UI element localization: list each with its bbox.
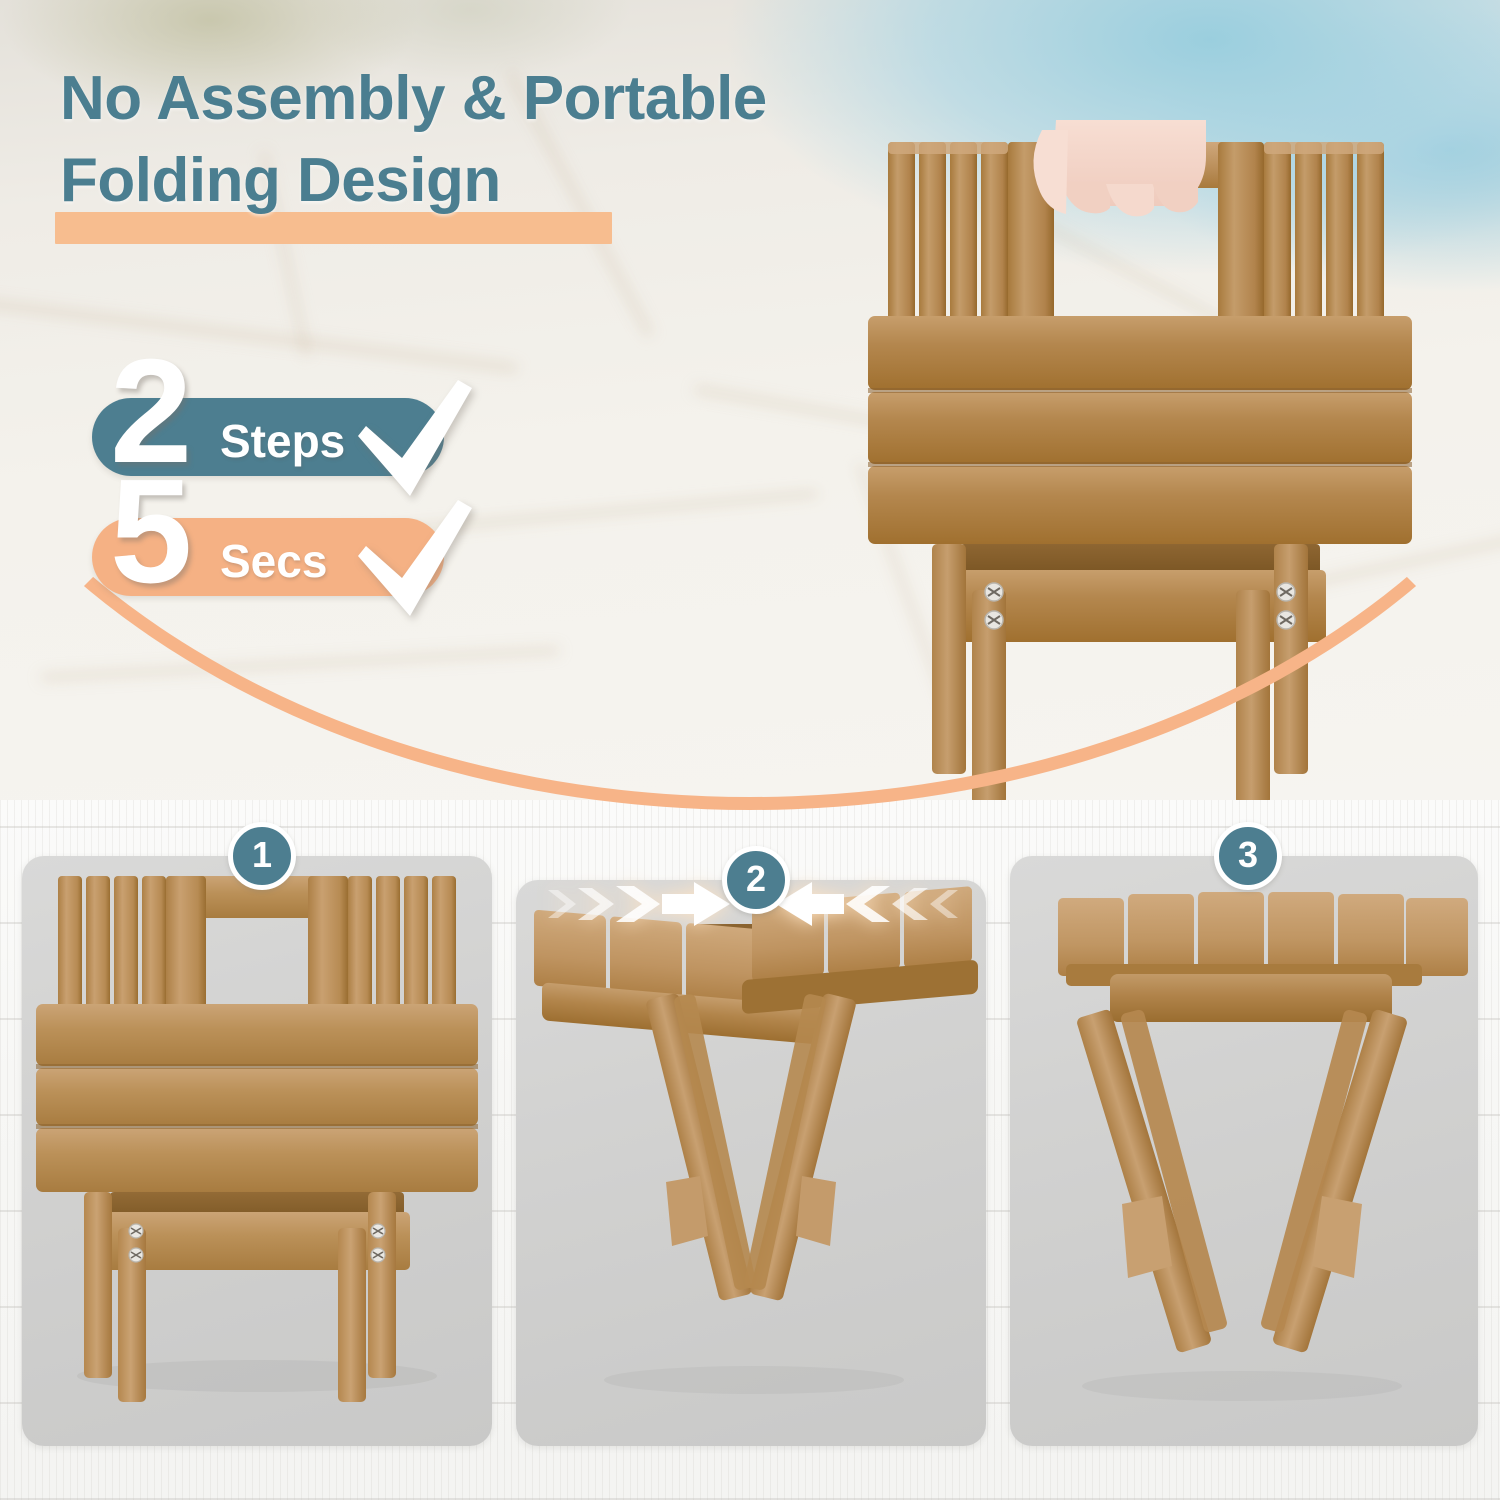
screw-icon [129, 1248, 143, 1262]
title-line-2: Folding Design [60, 140, 1060, 222]
leg-right-outer [1274, 544, 1308, 774]
screw-icon [985, 611, 1003, 629]
table-unfolding-step2 [516, 880, 986, 1446]
page-title: No Assembly & Portable Folding Design [60, 58, 1060, 222]
screw-icon [371, 1248, 385, 1262]
badge-steps-label: Steps [220, 414, 345, 468]
step-badge-3-number: 3 [1238, 837, 1258, 873]
arrow-right-icon [544, 880, 734, 928]
step-badge-2: 2 [722, 846, 790, 914]
check-icon [350, 374, 478, 502]
step-badge-1: 1 [228, 822, 296, 890]
screw-icon [1277, 583, 1295, 601]
folded-table-illustration [860, 120, 1420, 800]
x-legs [1076, 1008, 1409, 1353]
step-badge-3: 3 [1214, 822, 1282, 890]
badge-secs-label: Secs [220, 534, 327, 588]
step-panel-3: 3 [1010, 856, 1478, 1446]
slab-3 [868, 466, 1412, 544]
step-badge-2-number: 2 [746, 861, 766, 897]
title-line-1: No Assembly & Portable [60, 58, 1060, 140]
leg-right-inner [1236, 590, 1270, 800]
step-badge-1-number: 1 [252, 837, 272, 873]
screw-icon [985, 583, 1003, 601]
slab-2 [868, 392, 1412, 464]
table-top-slats [1058, 892, 1468, 976]
table-unfolded-step3 [1010, 856, 1478, 1446]
right-fin-bank [1264, 142, 1384, 320]
screw-icon [129, 1224, 143, 1238]
hero-product-image [860, 120, 1420, 800]
screw-icon [371, 1224, 385, 1238]
x-legs [645, 992, 857, 1301]
check-icon [350, 494, 478, 622]
slab-1 [868, 316, 1412, 390]
leg-left-outer [932, 544, 966, 774]
arrow-left-icon [772, 880, 962, 928]
brace-board [954, 570, 1326, 642]
folded-table-step1 [22, 856, 492, 1446]
screw-icon [1277, 611, 1295, 629]
badge-secs-number: 5 [110, 458, 192, 606]
step-panel-1: 1 [22, 856, 492, 1446]
step-panel-2: 2 [516, 880, 986, 1446]
infographic-root: No Assembly & Portable Folding Design 2 … [0, 0, 1500, 1500]
